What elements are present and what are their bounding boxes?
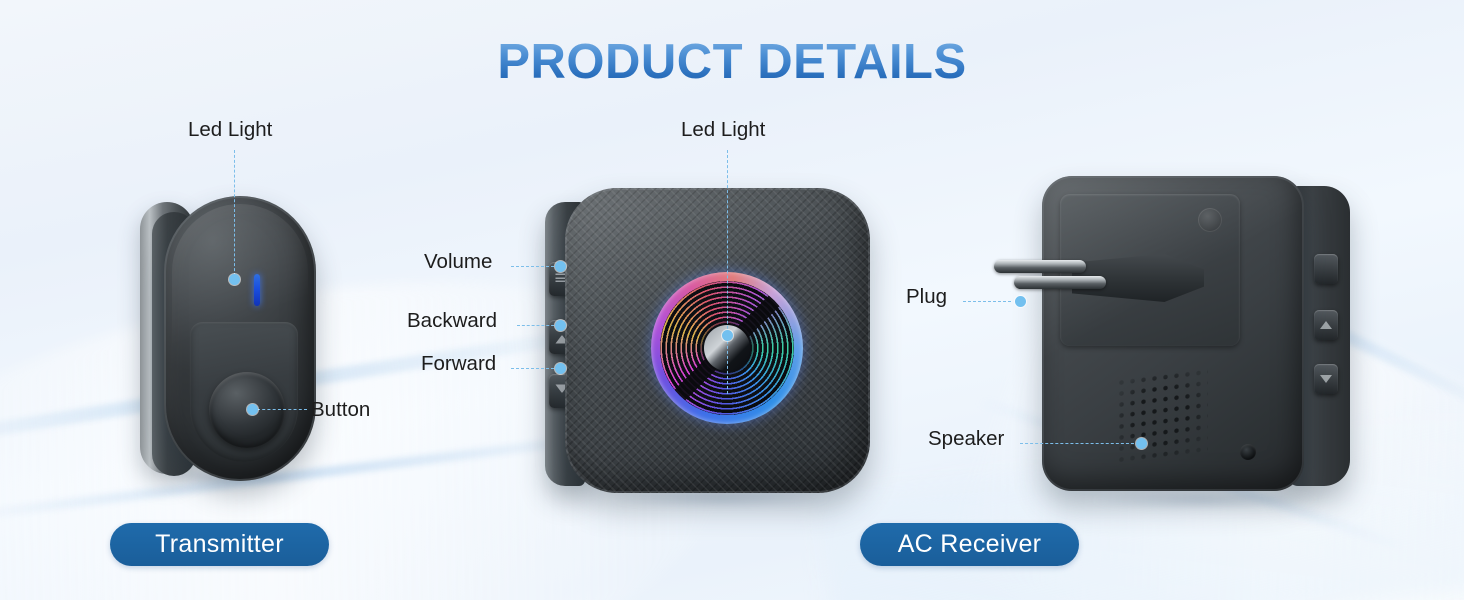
callout-label-transmitter-button: Button bbox=[311, 398, 370, 422]
receiver-front-face bbox=[565, 188, 870, 493]
callout-dot-receiver-forward bbox=[555, 363, 566, 374]
callout-label-receiver-forward: Forward bbox=[421, 352, 496, 376]
background-line-left-1 bbox=[0, 321, 636, 454]
callout-label-transmitter-led-light: Led Light bbox=[188, 118, 272, 142]
callout-line-receiver-volume bbox=[511, 266, 559, 267]
ac-receiver-volume-button[interactable] bbox=[1314, 254, 1338, 284]
callout-line-ac-receiver-plug bbox=[963, 301, 1011, 302]
transmitter-led-strip bbox=[254, 274, 260, 306]
callout-dot-transmitter-button bbox=[247, 404, 258, 415]
callout-label-receiver-led-light: Led Light bbox=[681, 118, 765, 142]
ac-receiver-plug-pin-top bbox=[994, 260, 1086, 273]
ac-receiver-forward-button[interactable] bbox=[1314, 364, 1338, 394]
receiver-gloss bbox=[565, 188, 870, 493]
callout-line-receiver-led-light bbox=[727, 150, 728, 394]
callout-line-transmitter-led-light bbox=[234, 150, 235, 276]
page-title: PRODUCT DETAILS bbox=[0, 34, 1464, 90]
callout-label-receiver-backward: Backward bbox=[407, 309, 497, 333]
ac-receiver-speaker-grille bbox=[1116, 366, 1208, 463]
arrow-down-icon bbox=[1320, 375, 1332, 383]
callout-line-receiver-forward bbox=[511, 368, 559, 369]
callout-label-receiver-volume: Volume bbox=[424, 250, 492, 274]
ac-receiver-device bbox=[1042, 176, 1350, 498]
callout-dot-receiver-led-light bbox=[722, 330, 733, 341]
callout-line-receiver-backward bbox=[517, 325, 559, 326]
ac-receiver-reset-hole bbox=[1240, 444, 1256, 460]
infographic-canvas: PRODUCT DETAILS Led Light Button bbox=[0, 0, 1464, 600]
callout-label-ac-receiver-speaker: Speaker bbox=[928, 427, 1004, 451]
ac-receiver-plate-mark bbox=[1198, 208, 1222, 232]
callout-label-ac-receiver-plug: Plug bbox=[906, 285, 947, 309]
callout-dot-receiver-backward bbox=[555, 320, 566, 331]
callout-dot-transmitter-led-light bbox=[229, 274, 240, 285]
callout-dot-ac-receiver-speaker bbox=[1136, 438, 1147, 449]
ac-receiver-backward-button[interactable] bbox=[1314, 310, 1338, 340]
receiver-device bbox=[545, 188, 870, 496]
badge-ac-receiver: AC Receiver bbox=[860, 523, 1079, 566]
callout-line-transmitter-button bbox=[257, 409, 307, 410]
transmitter-body bbox=[164, 196, 316, 481]
ac-receiver-plug-pin-bottom bbox=[1014, 276, 1106, 289]
callout-line-ac-receiver-speaker bbox=[1020, 443, 1139, 444]
transmitter-device bbox=[140, 196, 318, 481]
callout-dot-ac-receiver-plug bbox=[1015, 296, 1026, 307]
callout-dot-receiver-volume bbox=[555, 261, 566, 272]
badge-transmitter: Transmitter bbox=[110, 523, 329, 566]
arrow-up-icon bbox=[1320, 321, 1332, 329]
